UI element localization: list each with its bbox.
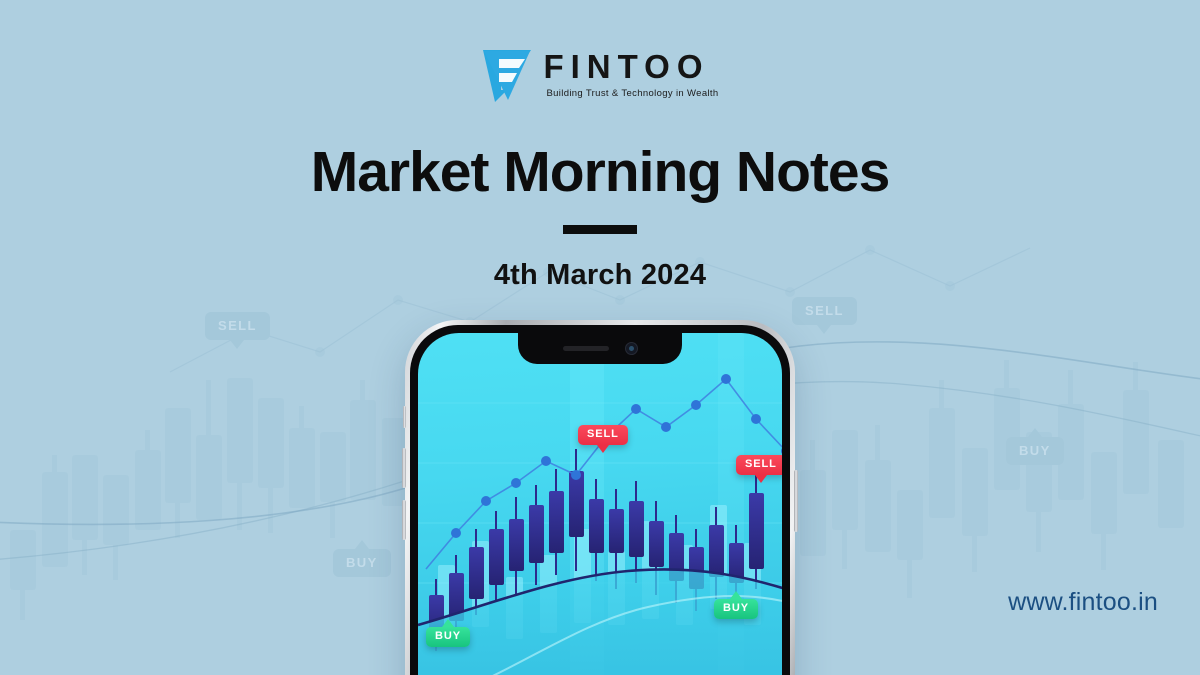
front-camera-icon bbox=[625, 342, 638, 355]
website-url[interactable]: www.fintoo.in bbox=[1008, 588, 1158, 617]
phone-notch bbox=[518, 333, 682, 364]
phone-bezel: SELL SELL BUY BUY bbox=[410, 325, 790, 675]
signal-badge-sell-2[interactable]: SELL bbox=[736, 455, 782, 475]
speaker-grille-icon bbox=[563, 346, 609, 351]
volume-up-button[interactable] bbox=[402, 448, 406, 488]
brand-name: FINTOO bbox=[543, 50, 718, 83]
trading-chart bbox=[418, 333, 782, 675]
fintoo-triangle-f-logo-icon bbox=[481, 46, 533, 102]
brand-tagline: Building Trust & Technology in Wealth bbox=[546, 88, 718, 99]
signal-badge-buy-1[interactable]: BUY bbox=[714, 599, 758, 619]
brand-logo: FINTOO Building Trust & Technology in We… bbox=[0, 46, 1200, 102]
watermark-badge-buy-right: BUY bbox=[1006, 437, 1064, 465]
watermark-badge-sell-left: SELL bbox=[205, 312, 270, 340]
phone-mockup: SELL SELL BUY BUY bbox=[405, 320, 795, 675]
watermark-badge-sell-right: SELL bbox=[792, 297, 857, 325]
page-title: Market Morning Notes bbox=[0, 143, 1200, 203]
volume-down-button[interactable] bbox=[402, 500, 406, 540]
signal-badge-sell-1[interactable]: SELL bbox=[578, 425, 628, 445]
power-button[interactable] bbox=[794, 470, 798, 532]
page-date: 4th March 2024 bbox=[0, 259, 1200, 292]
brand-text: FINTOO Building Trust & Technology in We… bbox=[543, 50, 718, 99]
phone-screen[interactable]: SELL SELL BUY BUY bbox=[418, 333, 782, 675]
mute-switch[interactable] bbox=[403, 406, 406, 428]
title-divider bbox=[563, 225, 637, 234]
watermark-badge-buy-left: BUY bbox=[333, 549, 391, 577]
signal-badge-buy-2[interactable]: BUY bbox=[426, 627, 470, 647]
